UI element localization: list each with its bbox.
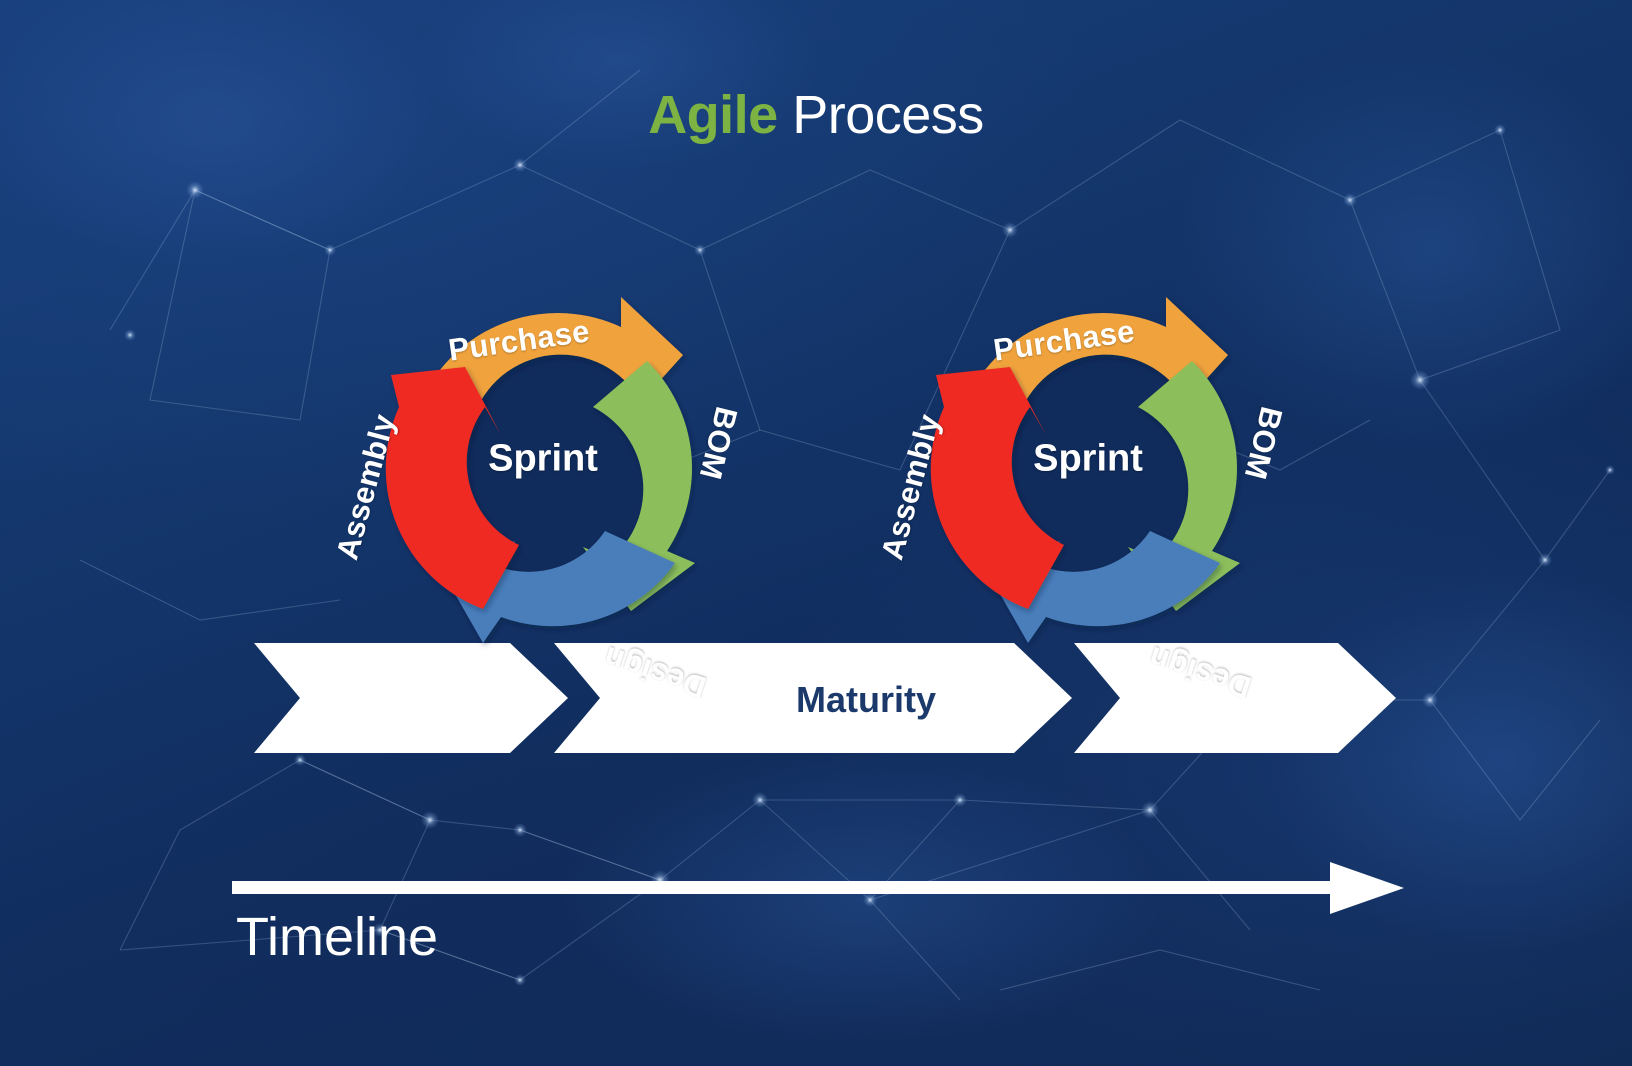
page-title-plain: Process (792, 85, 984, 145)
chevron-1 (254, 643, 568, 753)
cycle-left-center-label: Sprint (488, 438, 598, 481)
timeline-label: Timeline (236, 906, 438, 968)
slide-canvas: Agile Process Sprint Purchase BOM Design… (0, 0, 1632, 1066)
cycle-right-center-label: Sprint (1033, 438, 1143, 481)
maturity-label: Maturity (796, 679, 936, 721)
page-title: Agile Process (0, 88, 1632, 142)
page-title-accent: Agile (648, 85, 778, 145)
